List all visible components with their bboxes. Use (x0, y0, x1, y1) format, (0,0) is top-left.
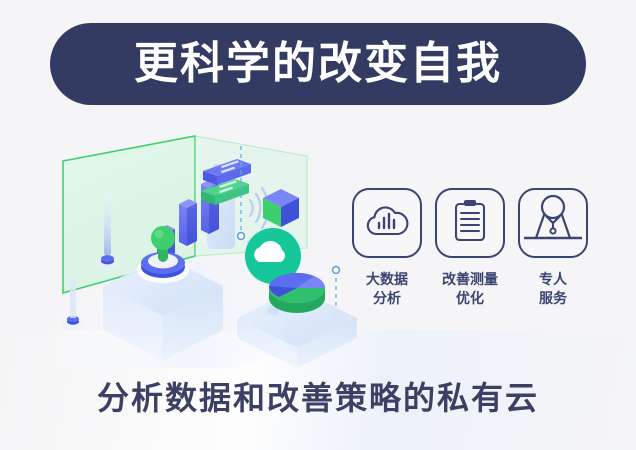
feature-icon-box (352, 188, 422, 258)
feature-label: 改善测量 优化 (442, 270, 498, 308)
headline-text: 更科学的改变自我 (134, 42, 502, 86)
isometric-illustration (45, 128, 365, 368)
cloud-bar-chart-icon (364, 201, 410, 246)
feature-icon-box (518, 188, 588, 258)
headline-banner: 更科学的改变自我 (50, 23, 586, 105)
feature-big-data-analysis[interactable]: 大数据 分析 (352, 188, 422, 328)
feature-list: 大数据 分析 改善测量 (352, 188, 588, 328)
page-tagline: 分析数据和改善策略的私有云 (0, 382, 636, 414)
feature-label: 专人 服务 (539, 270, 567, 308)
clipboard-icon (450, 198, 490, 249)
feature-label: 大数据 分析 (366, 270, 408, 308)
feature-icon-box (435, 188, 505, 258)
promo-banner-page: 更科学的改变自我 (0, 0, 636, 450)
pie-chart-3d (269, 273, 325, 313)
feature-dedicated-service[interactable]: 专人 服务 (518, 188, 588, 328)
feature-improvement-measurement[interactable]: 改善测量 优化 (435, 188, 505, 328)
service-person-icon (522, 190, 584, 257)
